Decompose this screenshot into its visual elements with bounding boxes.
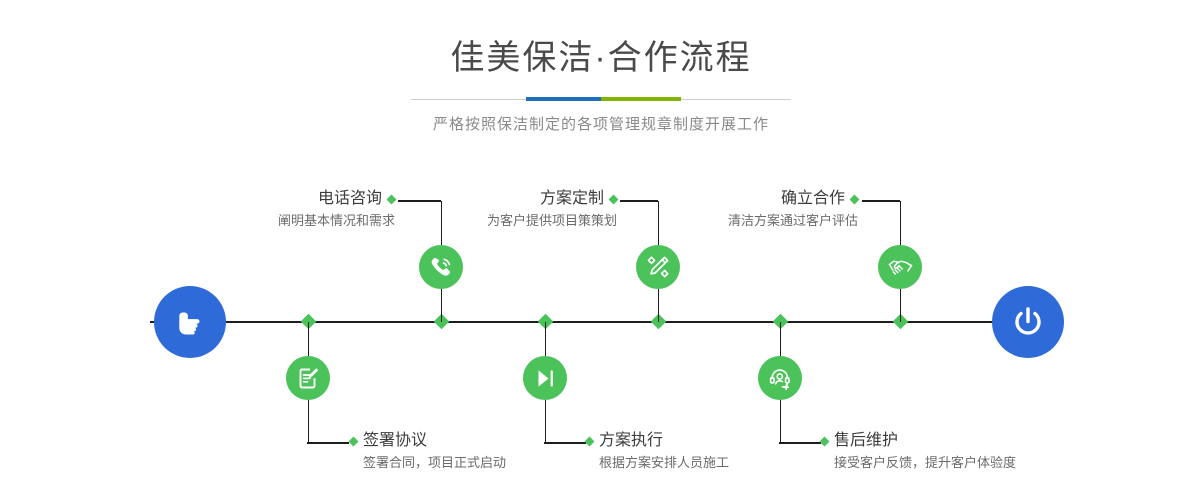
step-5-arm <box>862 200 900 202</box>
step-5-title: 确立合作 <box>781 188 845 210</box>
process-flow-infographic: 佳美保洁·合作流程 严格按照保洁制定的各项管理规章制度开展工作 <box>0 0 1202 502</box>
handshake-icon <box>887 254 914 281</box>
step-6-stem-upper <box>780 322 782 356</box>
step-1-label-diamond <box>387 194 397 204</box>
step-4-arm <box>544 442 586 444</box>
step-1-node-phone-call <box>419 245 463 289</box>
timeline-start-endpoint <box>154 286 226 358</box>
step-5-desc: 清洁方案通过客户评估 <box>640 211 858 231</box>
step-2-node-document-edit <box>286 356 330 400</box>
step-4-text: 方案执行 根据方案安排人员施工 <box>586 430 836 473</box>
step-3-label-diamond <box>609 194 619 204</box>
step-4-node-play-execute <box>523 356 567 400</box>
step-6-arm <box>779 442 821 444</box>
step-6-label-diamond <box>820 436 830 446</box>
step-5-stem-upper <box>900 201 902 245</box>
step-6-desc: 接受客户反馈，提升客户体验度 <box>834 453 1101 473</box>
step-2-text: 签署协议 签署合同，项目正式启动 <box>350 430 600 473</box>
step-5-text: 确立合作 清洁方案通过客户评估 <box>640 188 858 231</box>
pointing-hand-icon <box>171 303 209 341</box>
headset-support-icon <box>768 366 793 391</box>
document-edit-icon <box>296 366 321 391</box>
step-1-desc: 阐明基本情况和需求 <box>180 211 395 231</box>
timeline-end-endpoint <box>992 286 1064 358</box>
step-2-label-diamond <box>349 436 359 446</box>
step-4-desc: 根据方案安排人员施工 <box>599 453 836 473</box>
power-icon <box>1008 302 1048 342</box>
step-5-label-diamond <box>850 194 860 204</box>
divider-segment-green <box>601 97 681 101</box>
step-1-text: 电话咨询 阐明基本情况和需求 <box>180 188 395 231</box>
step-5-stem-lower <box>900 289 902 322</box>
step-2-stem-upper <box>308 322 310 356</box>
step-5-node-handshake <box>878 245 922 289</box>
play-execute-icon <box>533 366 558 391</box>
phone-call-icon <box>428 254 454 280</box>
title-divider <box>411 94 791 106</box>
step-3-text: 方案定制 为客户提供项目策策划 <box>400 188 617 231</box>
page-subtitle: 严格按照保洁制定的各项管理规章制度开展工作 <box>0 115 1202 135</box>
step-3-node-pencil-ruler <box>636 245 680 289</box>
step-2-stem-lower <box>308 400 310 443</box>
step-1-title: 电话咨询 <box>318 188 382 210</box>
timeline-axis <box>150 321 1052 323</box>
step-6-stem-lower <box>780 400 782 443</box>
step-3-stem-lower <box>658 289 660 322</box>
step-6-node-headset-support <box>758 356 802 400</box>
step-6-title: 售后维护 <box>834 430 898 452</box>
step-4-label-diamond <box>585 436 595 446</box>
step-4-title: 方案执行 <box>599 430 663 452</box>
step-2-title: 签署协议 <box>363 430 427 452</box>
step-2-desc: 签署合同，项目正式启动 <box>363 453 600 473</box>
divider-segment-blue <box>526 97 601 101</box>
step-2-arm <box>307 442 349 444</box>
step-6-text: 售后维护 接受客户反馈，提升客户体验度 <box>821 430 1101 473</box>
header: 佳美保洁·合作流程 严格按照保洁制定的各项管理规章制度开展工作 <box>0 0 1202 135</box>
step-4-stem-upper <box>545 322 547 356</box>
step-4-stem-lower <box>545 400 547 443</box>
step-3-title: 方案定制 <box>540 188 604 210</box>
step-1-stem-lower <box>441 289 443 322</box>
page-title: 佳美保洁·合作流程 <box>0 36 1202 80</box>
pencil-ruler-icon <box>645 254 671 280</box>
step-3-desc: 为客户提供项目策策划 <box>400 211 617 231</box>
